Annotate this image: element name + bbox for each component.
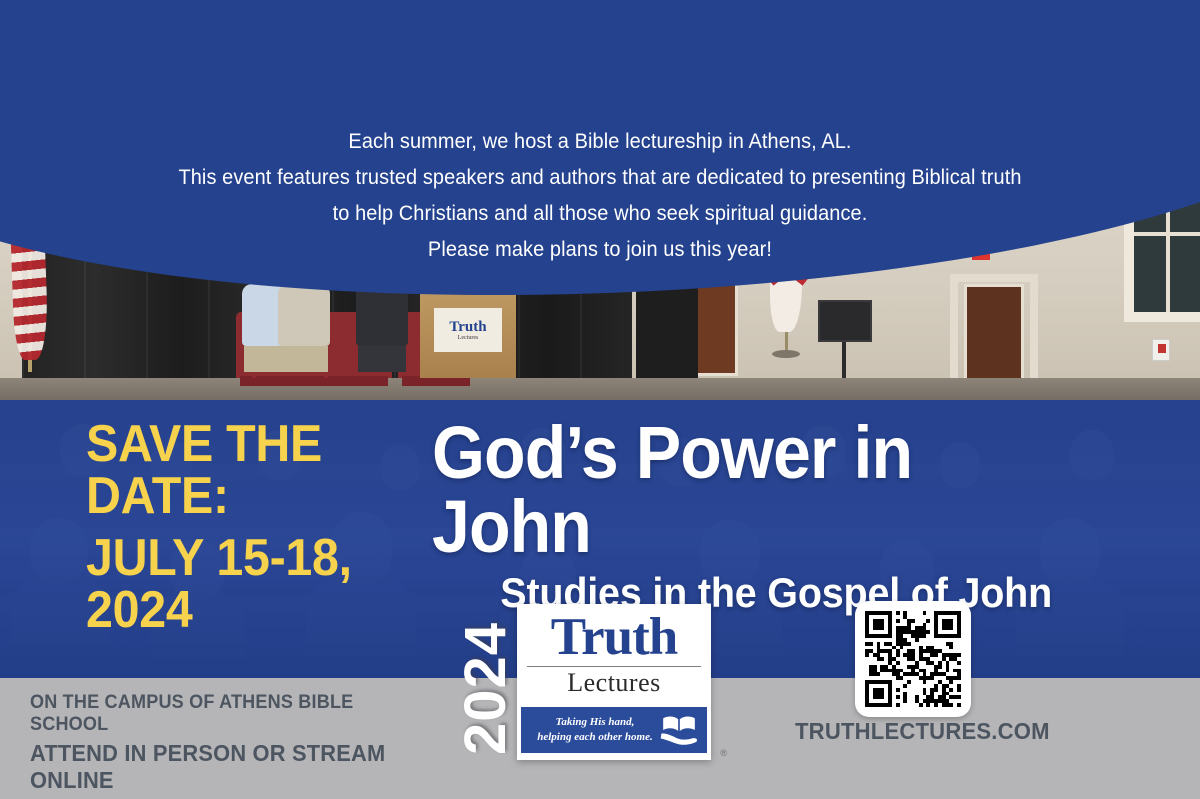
save-the-date: SAVE THE DATE: JULY 15-18, 2024 — [86, 418, 416, 636]
flag-base — [772, 350, 800, 358]
campus-info: ON THE CAMPUS OF ATHENS BIBLE SCHOOL ATT… — [30, 692, 450, 794]
logo-tagline-box: Taking His hand, helping each other home… — [521, 707, 707, 753]
podium-sign-top: Truth — [449, 320, 486, 335]
year-badge-text: 2024 — [453, 621, 520, 754]
podium-sign-bottom: Lectures — [458, 335, 479, 341]
intro-text: Each summer, we host a Bible lectureship… — [0, 124, 1200, 268]
logo-tagline-line-1: Taking His hand, — [556, 716, 635, 728]
person-legs — [280, 346, 328, 372]
seated-speaker — [356, 262, 408, 372]
podium-sign: Truth Lectures — [434, 308, 502, 352]
person-body — [356, 284, 408, 346]
monitor-screen — [818, 300, 872, 342]
person-legs — [358, 346, 406, 372]
qr-code-matrix — [865, 611, 961, 707]
poster: ANNUAL BIBLE LECTURESHIP — [0, 0, 1200, 799]
podium: Truth Lectures — [420, 286, 516, 378]
top-accent-strip — [0, 0, 1200, 43]
intro-line-4: Please make plans to join us this year! — [30, 232, 1170, 268]
campus-line-2: ATTEND IN PERSON OR STREAM ONLINE — [30, 740, 429, 794]
logo-wordmark: Truth Lectures — [517, 604, 711, 700]
intro-line-2: This event features trusted speakers and… — [30, 160, 1170, 196]
intro-line-3: to help Christians and all those who see… — [30, 196, 1170, 232]
logo-word-truth: Truth — [517, 610, 711, 664]
website-url[interactable]: TRUTHLECTURES.COM — [795, 718, 1035, 745]
qr-code[interactable] — [855, 601, 971, 717]
book-in-hand-icon — [659, 713, 699, 747]
intro-line-1: Each summer, we host a Bible lectureship… — [30, 124, 1170, 160]
registered-trademark-mark: ® — [720, 748, 727, 758]
theme-title-group: God’s Power in John Studies in the Gospe… — [432, 416, 1052, 614]
logo-tagline-line-2: helping each other home. — [537, 731, 653, 743]
theme-title: God’s Power in John — [432, 416, 1002, 564]
logo-tagline: Taking His hand, helping each other home… — [531, 715, 659, 745]
window-sign — [1152, 339, 1170, 361]
seated-speaker — [278, 262, 330, 372]
campus-line-1: ON THE CAMPUS OF ATHENS BIBLE SCHOOL — [30, 692, 429, 737]
person-body — [278, 284, 330, 346]
save-the-date-line-1: SAVE THE DATE: — [86, 418, 393, 522]
save-the-date-line-2: JULY 15-18, 2024 — [86, 532, 393, 636]
page-title: ANNUAL BIBLE LECTURESHIP — [288, 60, 912, 107]
truth-lectures-logo[interactable]: Truth Lectures Taking His hand, helping … — [517, 604, 711, 760]
logo-word-lectures: Lectures — [517, 667, 711, 700]
header-band: ANNUAL BIBLE LECTURESHIP — [0, 43, 1200, 124]
stage-floor — [0, 378, 1200, 402]
